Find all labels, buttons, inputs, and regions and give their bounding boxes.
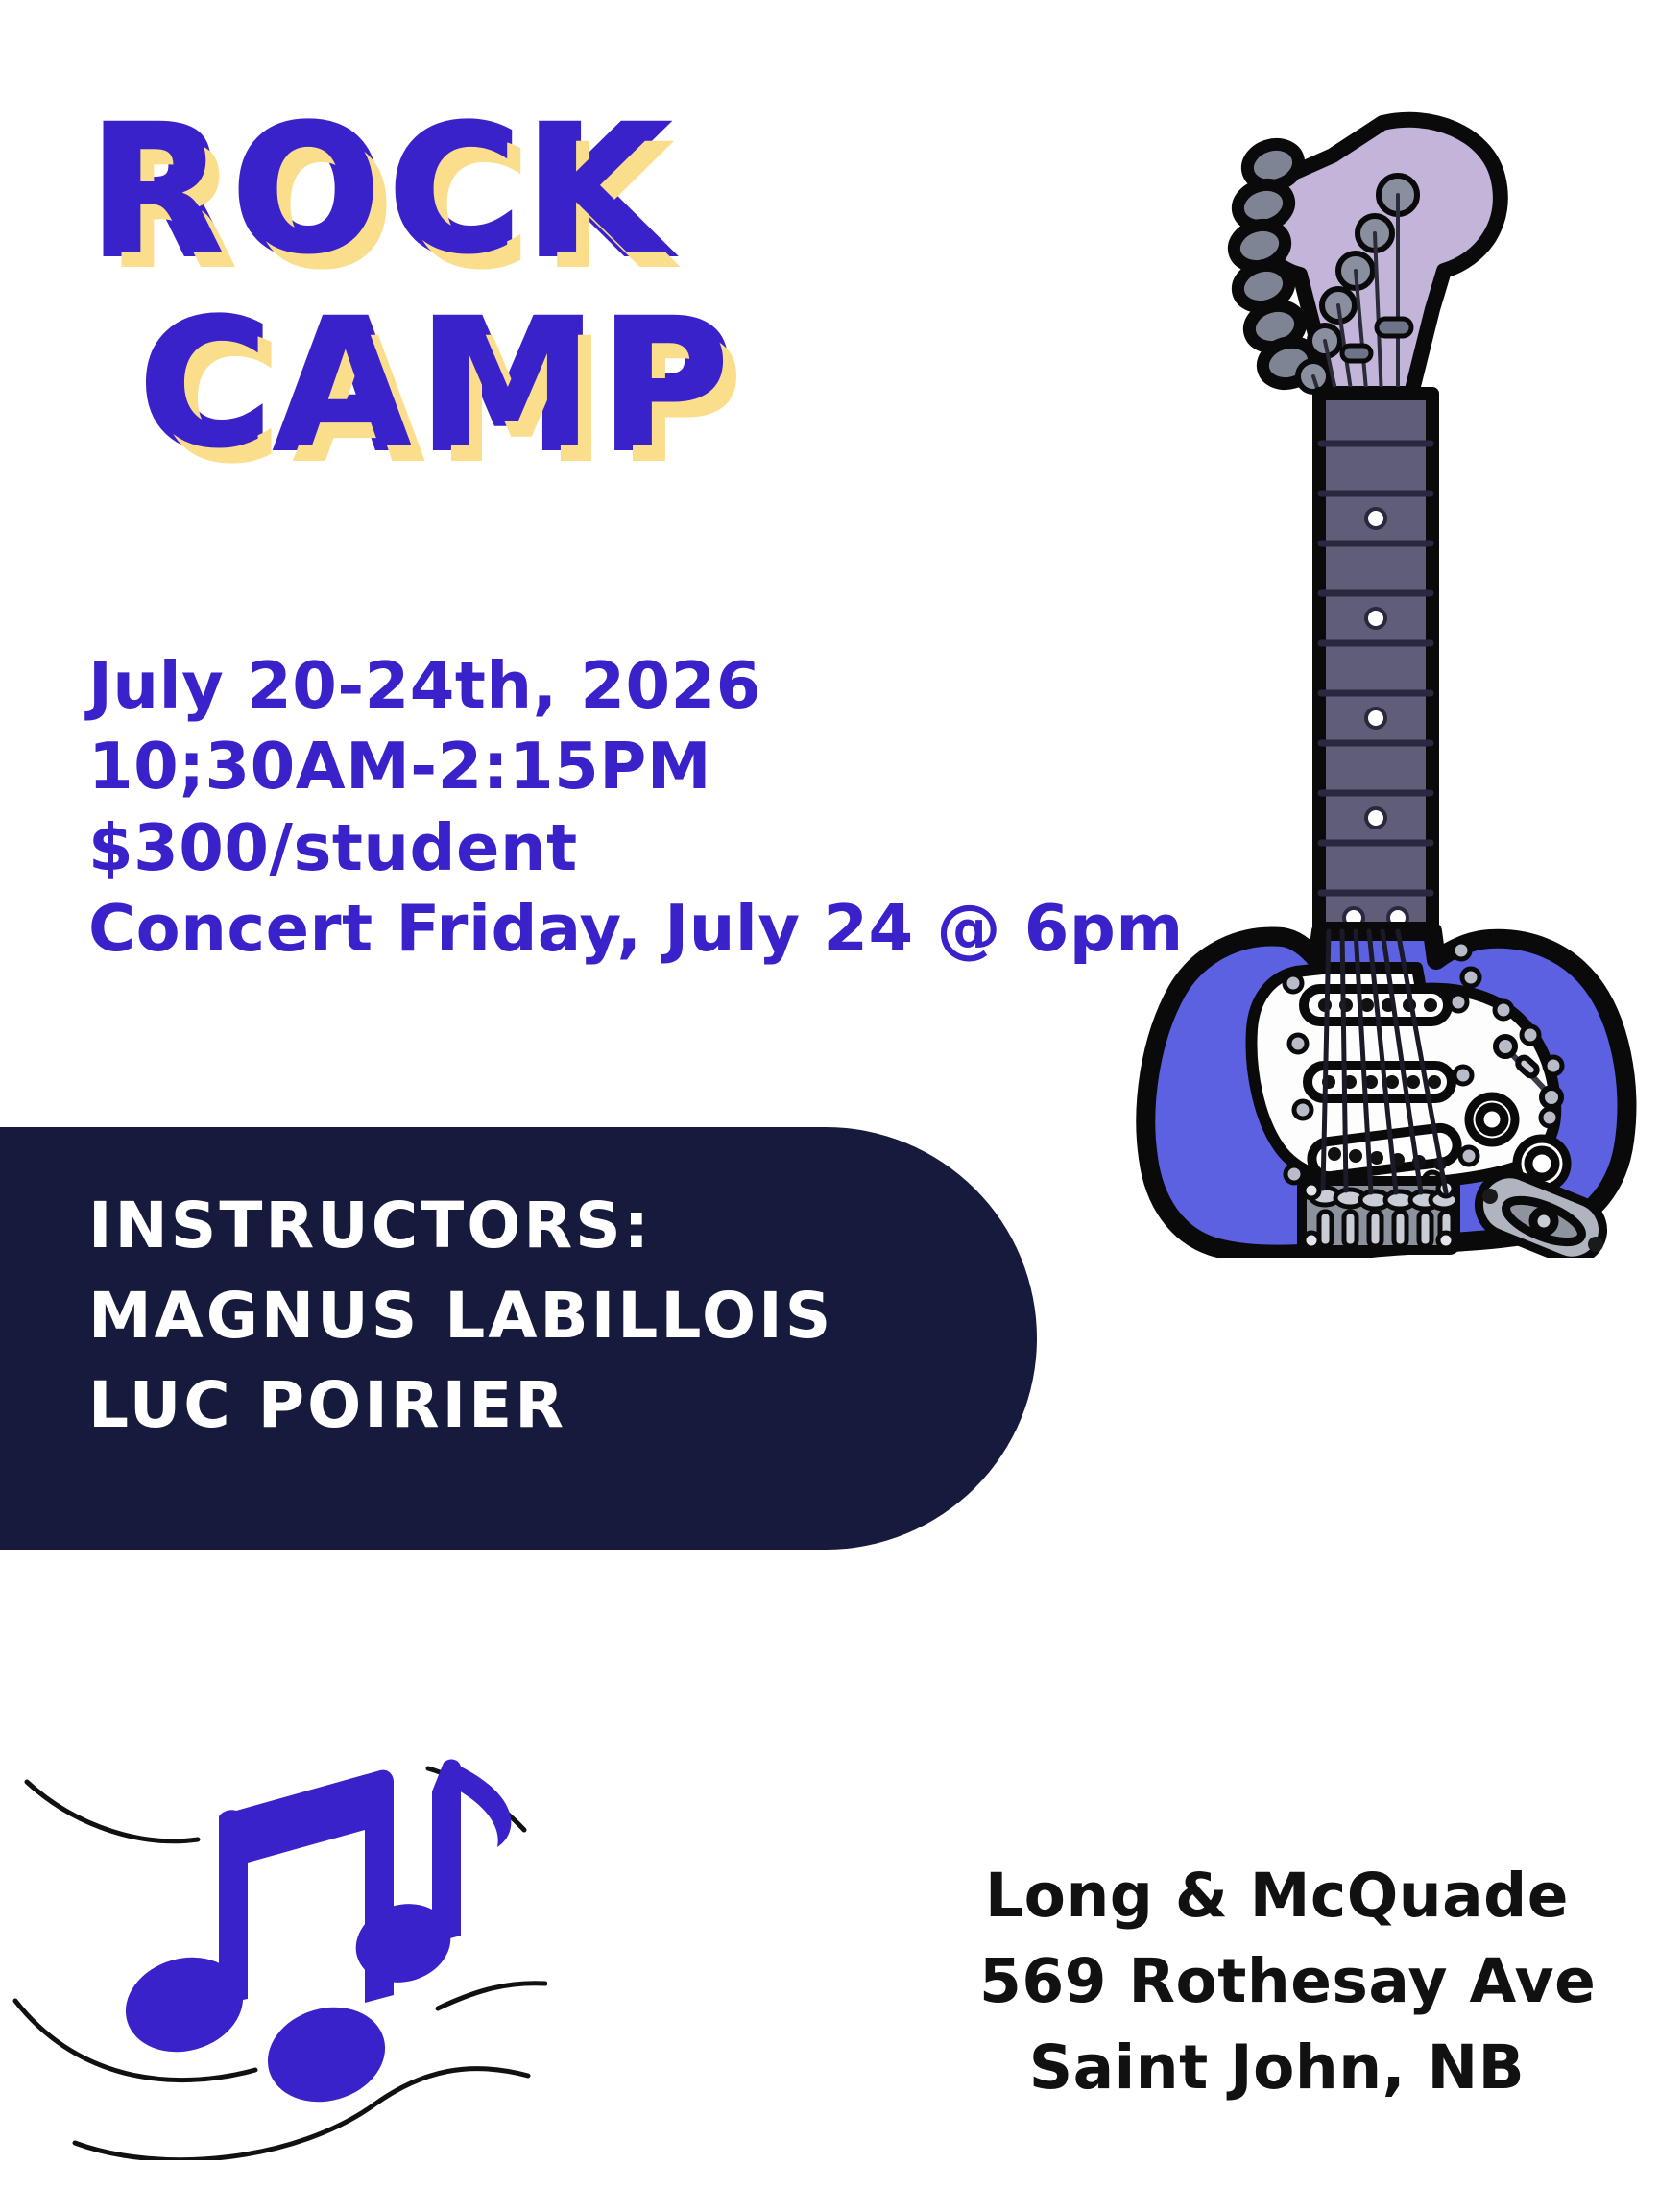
instructors-heading: INSTRUCTORS: [88,1181,1037,1271]
detail-price: $300/student [88,807,1106,888]
detail-time: 10;30AM-2:15PM [88,726,1106,806]
poster-title: ROCK CAMP [84,113,949,466]
electric-guitar-icon [1094,106,1651,1258]
detail-concert: Concert Friday, July 24 @ 6pm [88,888,1106,969]
instructor-name-2: LUC POIRIER [88,1360,1037,1451]
instructor-name-1: MAGNUS LABILLOIS [88,1271,1037,1361]
address-street: 569 Rothesay Ave [979,1938,1575,2024]
title-line-rock: ROCK [92,113,949,273]
poster-canvas: ROCK CAMP July 20-24th, 2026 10;30AM-2:1… [0,0,1659,2212]
address-venue: Long & McQuade [979,1853,1575,1938]
venue-address: Long & McQuade 569 Rothesay Ave Saint Jo… [979,1853,1575,2110]
music-notes-icon [10,1747,547,2160]
detail-dates: July 20-24th, 2026 [88,645,1106,726]
title-line-camp: CAMP [142,307,949,467]
instructors-panel: INSTRUCTORS: MAGNUS LABILLOIS LUC POIRIE… [0,1127,1037,1550]
address-city: Saint John, NB [979,2025,1575,2110]
event-details: July 20-24th, 2026 10;30AM-2:15PM $300/s… [88,645,1106,970]
